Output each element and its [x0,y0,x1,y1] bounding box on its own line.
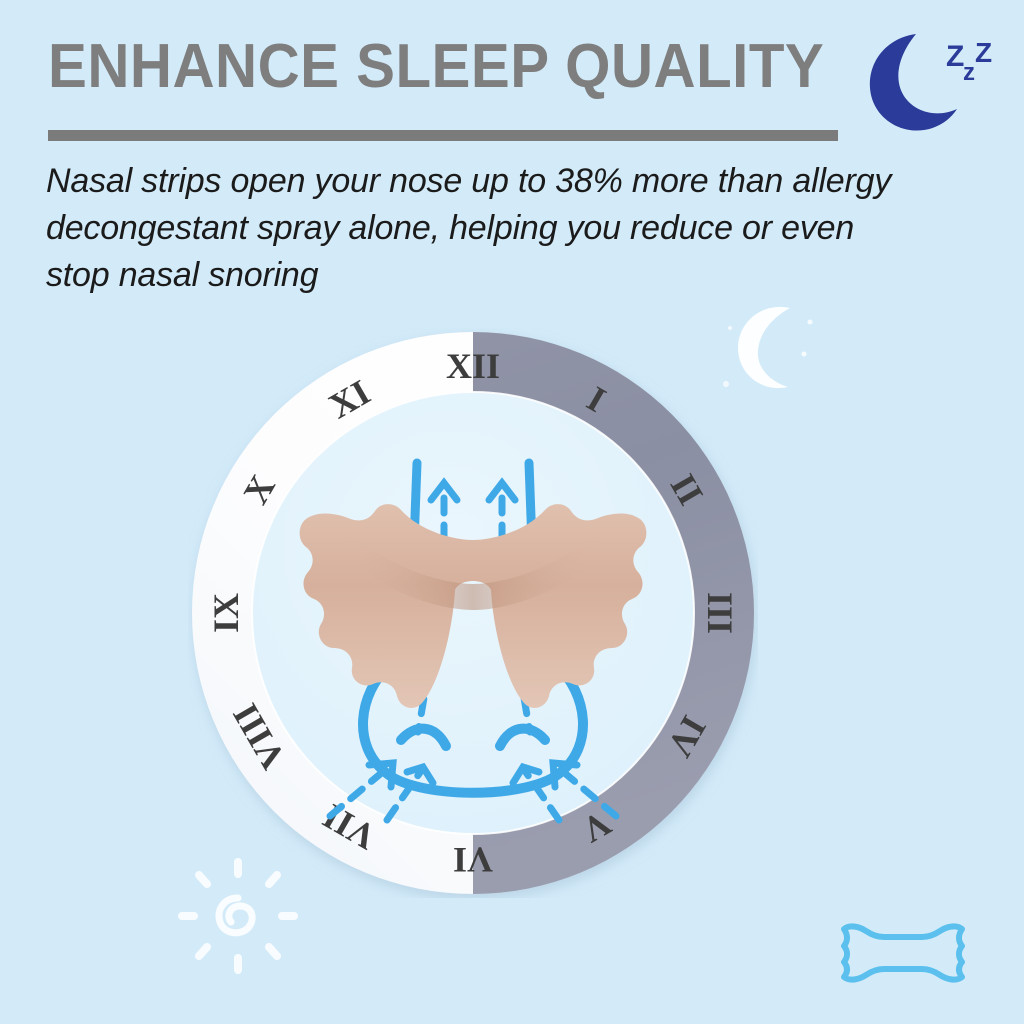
page-title: ENHANCE SLEEP QUALITY [48,36,824,98]
star-dot [802,352,807,357]
crescent-moon-icon [716,292,826,402]
star-dot [808,320,813,325]
description-line: Nasal strips open your nose up to 38% mo… [46,158,906,205]
clock-numeral-XII: XII [446,346,500,386]
star-dot [728,326,732,330]
header: ENHANCE SLEEP QUALITY Z z Z [0,0,1024,150]
title-divider [48,130,838,141]
star-dot [723,381,729,387]
clock-numeral-VI: VI [453,840,493,880]
clock-face [252,392,694,834]
zzz-letter-1: Z [946,40,964,73]
description-text: Nasal strips open your nose up to 38% mo… [46,158,906,299]
clock-numeral-IX: IX [206,593,246,633]
spiral-sun-icon [168,848,308,988]
clock-numeral-III: III [700,592,740,634]
nasal-strip-icon [828,915,978,987]
poster-canvas: ENHANCE SLEEP QUALITY Z z Z Nasal strips… [0,0,1024,1024]
description-line: decongestant spray alone, helping you re… [46,205,906,252]
sun-rays [182,862,294,970]
clock-illustration: XII I II III IV V VI VII VIII IX X XI [188,328,758,898]
moon-zzz-icon: Z z Z [862,24,992,136]
zzz-letter-2: z [963,59,975,86]
zzz-letter-3: Z [975,37,992,68]
